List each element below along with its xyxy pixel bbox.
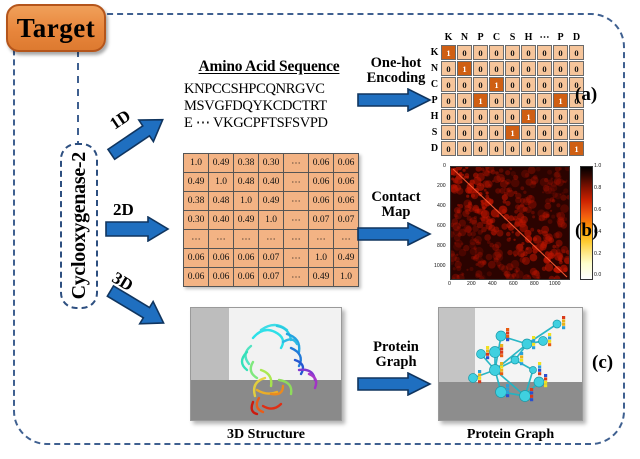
arrow-2d [104,216,170,247]
distance-matrix-cell: 0.48 [209,192,234,211]
distance-matrix-row: 0.060.060.060.07⋯0.491.0 [184,268,359,287]
one-hot-row: N010000000 [429,61,584,76]
distance-matrix-cell: ⋯ [284,211,309,230]
protein-graph-image [438,307,583,421]
one-hot-row: H000001000 [429,109,584,124]
distance-matrix-cell: 0.07 [259,268,284,287]
one-hot-cell: 0 [553,45,568,60]
one-hot-matrix: K N P C S H ⋯ P D K100000000N010000000C0… [428,30,585,157]
transform-label-one-hot: One-hot Encoding [356,56,436,86]
one-hot-cell: 1 [521,109,536,124]
transform-contact-map: Contact Map [356,190,436,251]
distance-matrix-row: 0.060.060.060.07⋯1.00.49 [184,249,359,268]
one-hot-cell: 0 [489,109,504,124]
one-hot-cell: 0 [473,45,488,60]
one-hot-cell: 0 [537,93,552,108]
panel-tag-c: (c) [592,352,613,374]
one-hot-cell: 0 [521,141,536,156]
one-hot-col-header: C [489,31,504,44]
one-hot-cell: 1 [569,141,584,156]
cmap-xtick: 1000 [549,281,561,287]
distance-matrix-cell: 0.49 [209,154,234,173]
transform-label-contact-map: Contact Map [356,190,436,220]
distance-matrix-cell: 0.40 [209,211,234,230]
one-hot-cell: 1 [473,93,488,108]
distance-matrix-cell: 0.07 [259,249,284,268]
one-hot-row: K100000000 [429,45,584,60]
one-hot-cell: 0 [457,77,472,92]
one-hot-cell: 1 [553,93,568,108]
distance-matrix-cell: 0.07 [309,211,334,230]
distance-matrix-cell: 1.0 [334,268,359,287]
one-hot-cell: 0 [505,93,520,108]
distance-matrix-cell: 0.49 [309,268,334,287]
structure-caption: 3D Structure [190,427,342,443]
distance-matrix-cell: ⋯ [234,230,259,249]
one-hot-cell: 0 [457,109,472,124]
one-hot-col-header: P [553,31,568,44]
one-hot-cell: 0 [569,125,584,140]
distance-matrix-cell: 0.06 [309,192,334,211]
cmap-xtick: 400 [488,281,497,287]
protein-graph-panel: Protein Graph [438,307,583,443]
one-hot-row-header: P [429,93,440,108]
contact-map-image [451,167,569,279]
one-hot-cell: 0 [457,45,472,60]
transform-protein-graph: Protein Graph [356,340,436,401]
distance-matrix-cell: 0.06 [184,249,209,268]
distance-matrix-cell: 0.38 [184,192,209,211]
distance-matrix-cell: ⋯ [209,230,234,249]
one-hot-col-header: S [505,31,520,44]
one-hot-cell: 0 [537,141,552,156]
distance-matrix-cell: ⋯ [184,230,209,249]
cmap-ytick: 600 [437,223,446,229]
arrow-3d [104,282,170,337]
one-hot-row: P001000010 [429,93,584,108]
distance-matrix-cell: 1.0 [184,154,209,173]
distance-matrix-row: 0.491.00.480.40⋯0.060.06 [184,173,359,192]
one-hot-cell: 0 [521,125,536,140]
distance-matrix-cell: ⋯ [284,249,309,268]
panel-tag-a: (a) [575,84,597,106]
distance-matrix-cell: 0.49 [234,211,259,230]
one-hot-cell: 0 [537,61,552,76]
one-hot-cell: 0 [521,77,536,92]
distance-matrix-cell: 1.0 [309,249,334,268]
distance-matrix-row: 0.300.400.491.0⋯0.070.07 [184,211,359,230]
distance-matrix-cell: ⋯ [309,230,334,249]
one-hot-cell: 1 [457,61,472,76]
one-hot-cell: 0 [505,45,520,60]
distance-matrix-cell: 0.06 [184,268,209,287]
distance-matrix-cell: 1.0 [259,211,284,230]
one-hot-col-header: H [521,31,536,44]
one-hot-cell: 0 [489,45,504,60]
distance-matrix-panel: 1.00.490.380.30⋯0.060.060.491.00.480.40⋯… [183,153,359,287]
distance-matrix-cell: 0.49 [184,173,209,192]
one-hot-row-header: S [429,125,440,140]
cmap-ytick: 0 [443,163,446,169]
transform-one-hot-encoding: One-hot Encoding [356,56,436,117]
cmap-xtick: 800 [530,281,539,287]
one-hot-col-header: K [441,31,456,44]
graph-caption: Protein Graph [438,427,583,443]
one-hot-row-header: K [429,45,440,60]
one-hot-cell: 0 [553,125,568,140]
one-hot-cell: 0 [441,109,456,124]
one-hot-cell: 0 [521,61,536,76]
distance-matrix-cell: ⋯ [284,192,309,211]
arrow-icon [356,88,432,112]
one-hot-cell: 0 [537,109,552,124]
distance-matrix-cell: ⋯ [259,230,284,249]
distance-matrix-cell: 1.0 [209,173,234,192]
one-hot-cell: 0 [505,77,520,92]
dimension-label-2d: 2D [113,200,134,220]
one-hot-cell: 0 [473,141,488,156]
one-hot-cell: 0 [441,141,456,156]
distance-matrix-cell: 0.06 [209,268,234,287]
distance-matrix-cell: 0.06 [309,173,334,192]
one-hot-row-header: D [429,141,440,156]
one-hot-header-row: K N P C S H ⋯ P D [429,31,584,44]
distance-matrix-cell: 0.06 [309,154,334,173]
one-hot-cell: 0 [569,45,584,60]
cmap-ytick: 1000 [434,263,446,269]
target-badge-label: Target [17,13,96,44]
distance-matrix-row: ⋯⋯⋯⋯⋯⋯⋯ [184,230,359,249]
one-hot-row: C000100000 [429,77,584,92]
distance-matrix-cell: ⋯ [334,230,359,249]
one-hot-col-header: D [569,31,584,44]
one-hot-cell: 0 [537,77,552,92]
distance-matrix-cell: ⋯ [284,173,309,192]
one-hot-row: S000010000 [429,125,584,140]
one-hot-cell: 0 [537,45,552,60]
one-hot-cell: 0 [441,93,456,108]
one-hot-cell: 0 [553,61,568,76]
one-hot-cell: 0 [441,125,456,140]
one-hot-cell: 0 [457,93,472,108]
cmap-xtick: 200 [467,281,476,287]
one-hot-cell: 0 [553,77,568,92]
one-hot-cell: 1 [441,45,456,60]
arrow-icon [356,222,432,246]
one-hot-matrix-panel: K N P C S H ⋯ P D K100000000N010000000C0… [428,30,585,157]
colorbar-tick: 0.8 [594,185,601,191]
one-hot-cell: 0 [521,93,536,108]
one-hot-cell: 0 [489,93,504,108]
sequence-title: Amino Acid Sequence [176,58,362,76]
distance-matrix-cell: ⋯ [284,230,309,249]
one-hot-cell: 0 [489,61,504,76]
panel-tag-b: (b) [575,220,598,242]
cmap-xtick: 0 [448,281,451,287]
distance-matrix-cell: 0.06 [234,268,259,287]
one-hot-cell: 0 [553,109,568,124]
cmap-ytick: 400 [437,203,446,209]
distance-matrix-cell: ⋯ [284,154,309,173]
distance-matrix-cell: 0.07 [334,211,359,230]
distance-matrix-body: 1.00.490.380.30⋯0.060.060.491.00.480.40⋯… [184,154,359,287]
distance-matrix-cell: 0.40 [259,173,284,192]
cmap-ytick: 800 [437,243,446,249]
one-hot-cell: 0 [489,125,504,140]
distance-matrix-cell: 0.06 [209,249,234,268]
one-hot-cell: 0 [569,61,584,76]
distance-matrix-cell: 0.06 [234,249,259,268]
one-hot-cell: 0 [457,125,472,140]
contact-map-plot [450,166,570,280]
one-hot-cell: 0 [457,141,472,156]
colorbar-tick: 0.6 [594,207,601,213]
distance-matrix: 1.00.490.380.30⋯0.060.060.491.00.480.40⋯… [183,153,359,287]
distance-matrix-cell: 1.0 [234,192,259,211]
cmap-xtick: 600 [509,281,518,287]
one-hot-cell: 0 [537,125,552,140]
one-hot-col-header: P [473,31,488,44]
structure-image [190,307,342,421]
distance-matrix-cell: 0.06 [334,154,359,173]
one-hot-cell: 0 [553,141,568,156]
colorbar-tick: 1.0 [594,163,601,169]
one-hot-cell: 0 [473,109,488,124]
target-badge: Target [6,4,106,52]
colorbar-tick: 0.2 [594,251,601,257]
transform-label-protein-graph: Protein Graph [356,340,436,370]
arrow-icon [356,372,432,396]
cmap-ytick: 200 [437,183,446,189]
one-hot-cell: 0 [473,61,488,76]
target-protein-label: Cyclooxygenase-2 [68,152,91,299]
one-hot-row-header: C [429,77,440,92]
one-hot-cell: 0 [441,61,456,76]
one-hot-cell: 1 [489,77,504,92]
one-hot-cell: 0 [505,61,520,76]
distance-matrix-cell: 0.49 [334,249,359,268]
one-hot-row-header: H [429,109,440,124]
target-protein-box: Cyclooxygenase-2 [60,143,98,309]
distance-matrix-cell: 0.06 [334,192,359,211]
colorbar-tick: 0.0 [594,272,601,278]
structure-panel: 3D Structure [190,307,342,443]
one-hot-cell: 0 [473,125,488,140]
amino-acid-sequence-panel: Amino Acid Sequence KNPCCSHPCQNRGVC MSVG… [176,58,362,131]
one-hot-body: K100000000N010000000C000100000P001000010… [429,45,584,156]
distance-matrix-cell: 0.06 [334,173,359,192]
one-hot-cell: 0 [505,141,520,156]
one-hot-cell: 0 [473,77,488,92]
distance-matrix-cell: 0.49 [259,192,284,211]
sequence-text: KNPCCSHPCQNRGVC MSVGFDQYKCDCTRT E ⋯ VKGC… [176,81,362,131]
distance-matrix-cell: 0.30 [184,211,209,230]
one-hot-cell: 0 [521,45,536,60]
distance-matrix-cell: 0.30 [259,154,284,173]
one-hot-cell: 1 [505,125,520,140]
distance-matrix-row: 1.00.490.380.30⋯0.060.06 [184,154,359,173]
distance-matrix-cell: 0.48 [234,173,259,192]
one-hot-cell: 0 [505,109,520,124]
one-hot-cell: 0 [441,77,456,92]
distance-matrix-row: 0.380.481.00.49⋯0.060.06 [184,192,359,211]
one-hot-cell: 0 [489,141,504,156]
one-hot-row-header: N [429,61,440,76]
one-hot-row: D000000001 [429,141,584,156]
distance-matrix-cell: ⋯ [284,268,309,287]
one-hot-cell: 0 [569,109,584,124]
distance-matrix-cell: 0.38 [234,154,259,173]
one-hot-col-header: ⋯ [537,31,552,44]
one-hot-col-header: N [457,31,472,44]
